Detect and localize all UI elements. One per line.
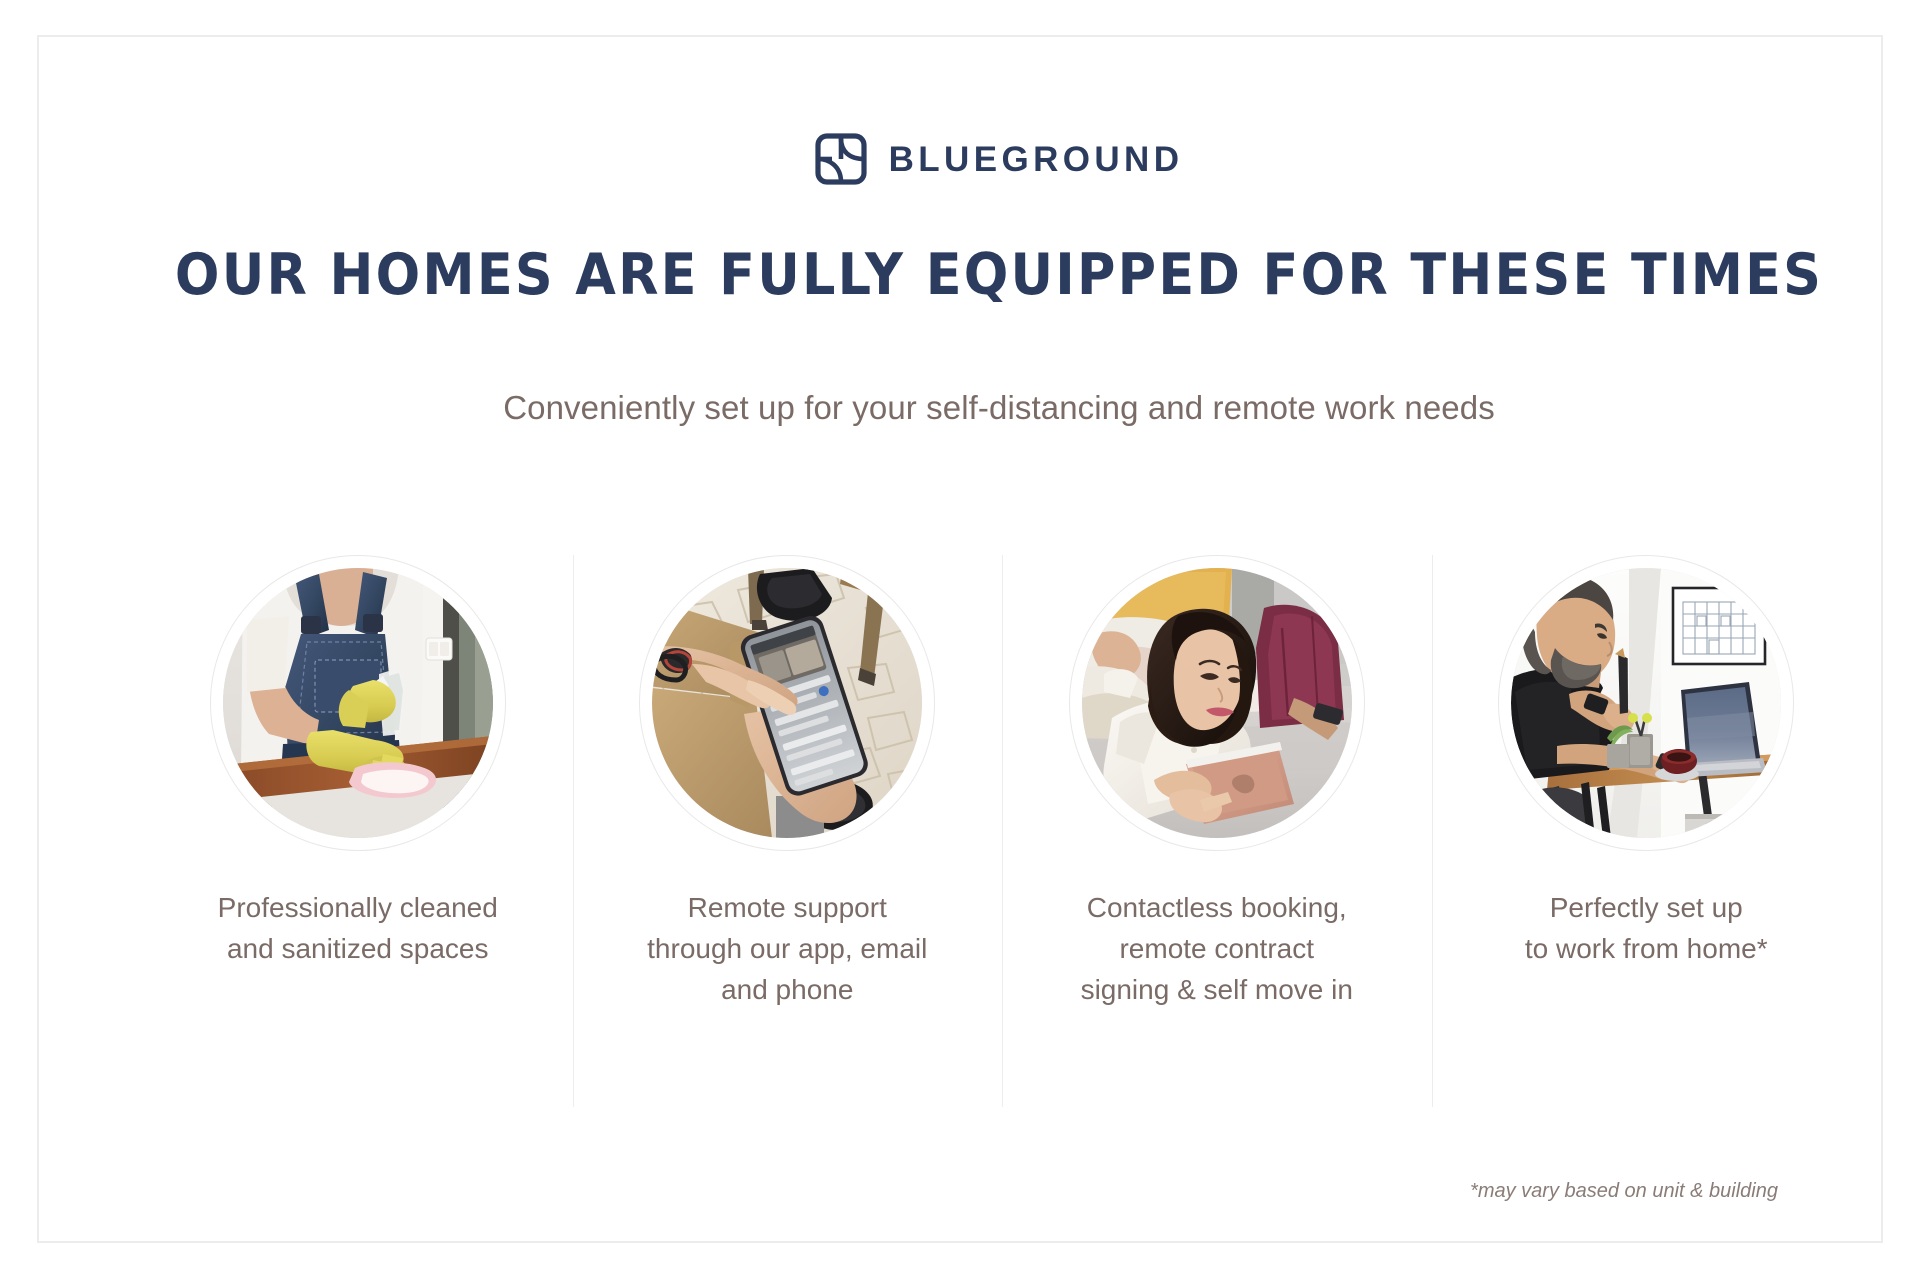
feature-caption: Contactless booking, remote contract sig…: [1081, 887, 1353, 1010]
page-subtitle: Conveniently set up for your self-distan…: [39, 389, 1920, 427]
feature-photo-wrap: [639, 555, 935, 851]
poster-canvas: BLUEGROUND OUR HOMES ARE FULLY EQUIPPED …: [0, 0, 1920, 1280]
poster-frame: BLUEGROUND OUR HOMES ARE FULLY EQUIPPED …: [37, 35, 1883, 1243]
page-title: OUR HOMES ARE FULLY EQUIPPED FOR THESE T…: [116, 242, 1882, 308]
feature-photo-wrap: [1069, 555, 1365, 851]
feature-column-contactless-booking: Contactless booking, remote contract sig…: [1002, 555, 1432, 1107]
feature-photo-wrap: [210, 555, 506, 851]
brand-wordmark: BLUEGROUND: [889, 142, 1184, 177]
footnote-disclaimer: *may vary based on unit & building: [1470, 1180, 1778, 1203]
brand-logo: BLUEGROUND: [39, 133, 1920, 185]
photo-hands-using-phone-app: [652, 568, 922, 838]
feature-column-remote-support: Remote support through our app, email an…: [573, 555, 1003, 1107]
feature-caption: Professionally cleaned and sanitized spa…: [218, 887, 498, 969]
feature-caption: Perfectly set up to work from home*: [1525, 887, 1768, 969]
blueground-square-icon: [815, 133, 867, 185]
feature-photo-wrap: [1498, 555, 1794, 851]
feature-column-work-from-home: Perfectly set up to work from home*: [1432, 555, 1862, 1107]
photo-woman-on-bed-with-tablet: [1082, 568, 1352, 838]
feature-column-cleaning: Professionally cleaned and sanitized spa…: [143, 555, 573, 1107]
feature-caption: Remote support through our app, email an…: [647, 887, 927, 1010]
photo-man-at-desk-with-laptop: [1511, 568, 1781, 838]
photo-cleaner-wiping-counter: [223, 568, 493, 838]
feature-columns: Professionally cleaned and sanitized spa…: [143, 555, 1861, 1107]
